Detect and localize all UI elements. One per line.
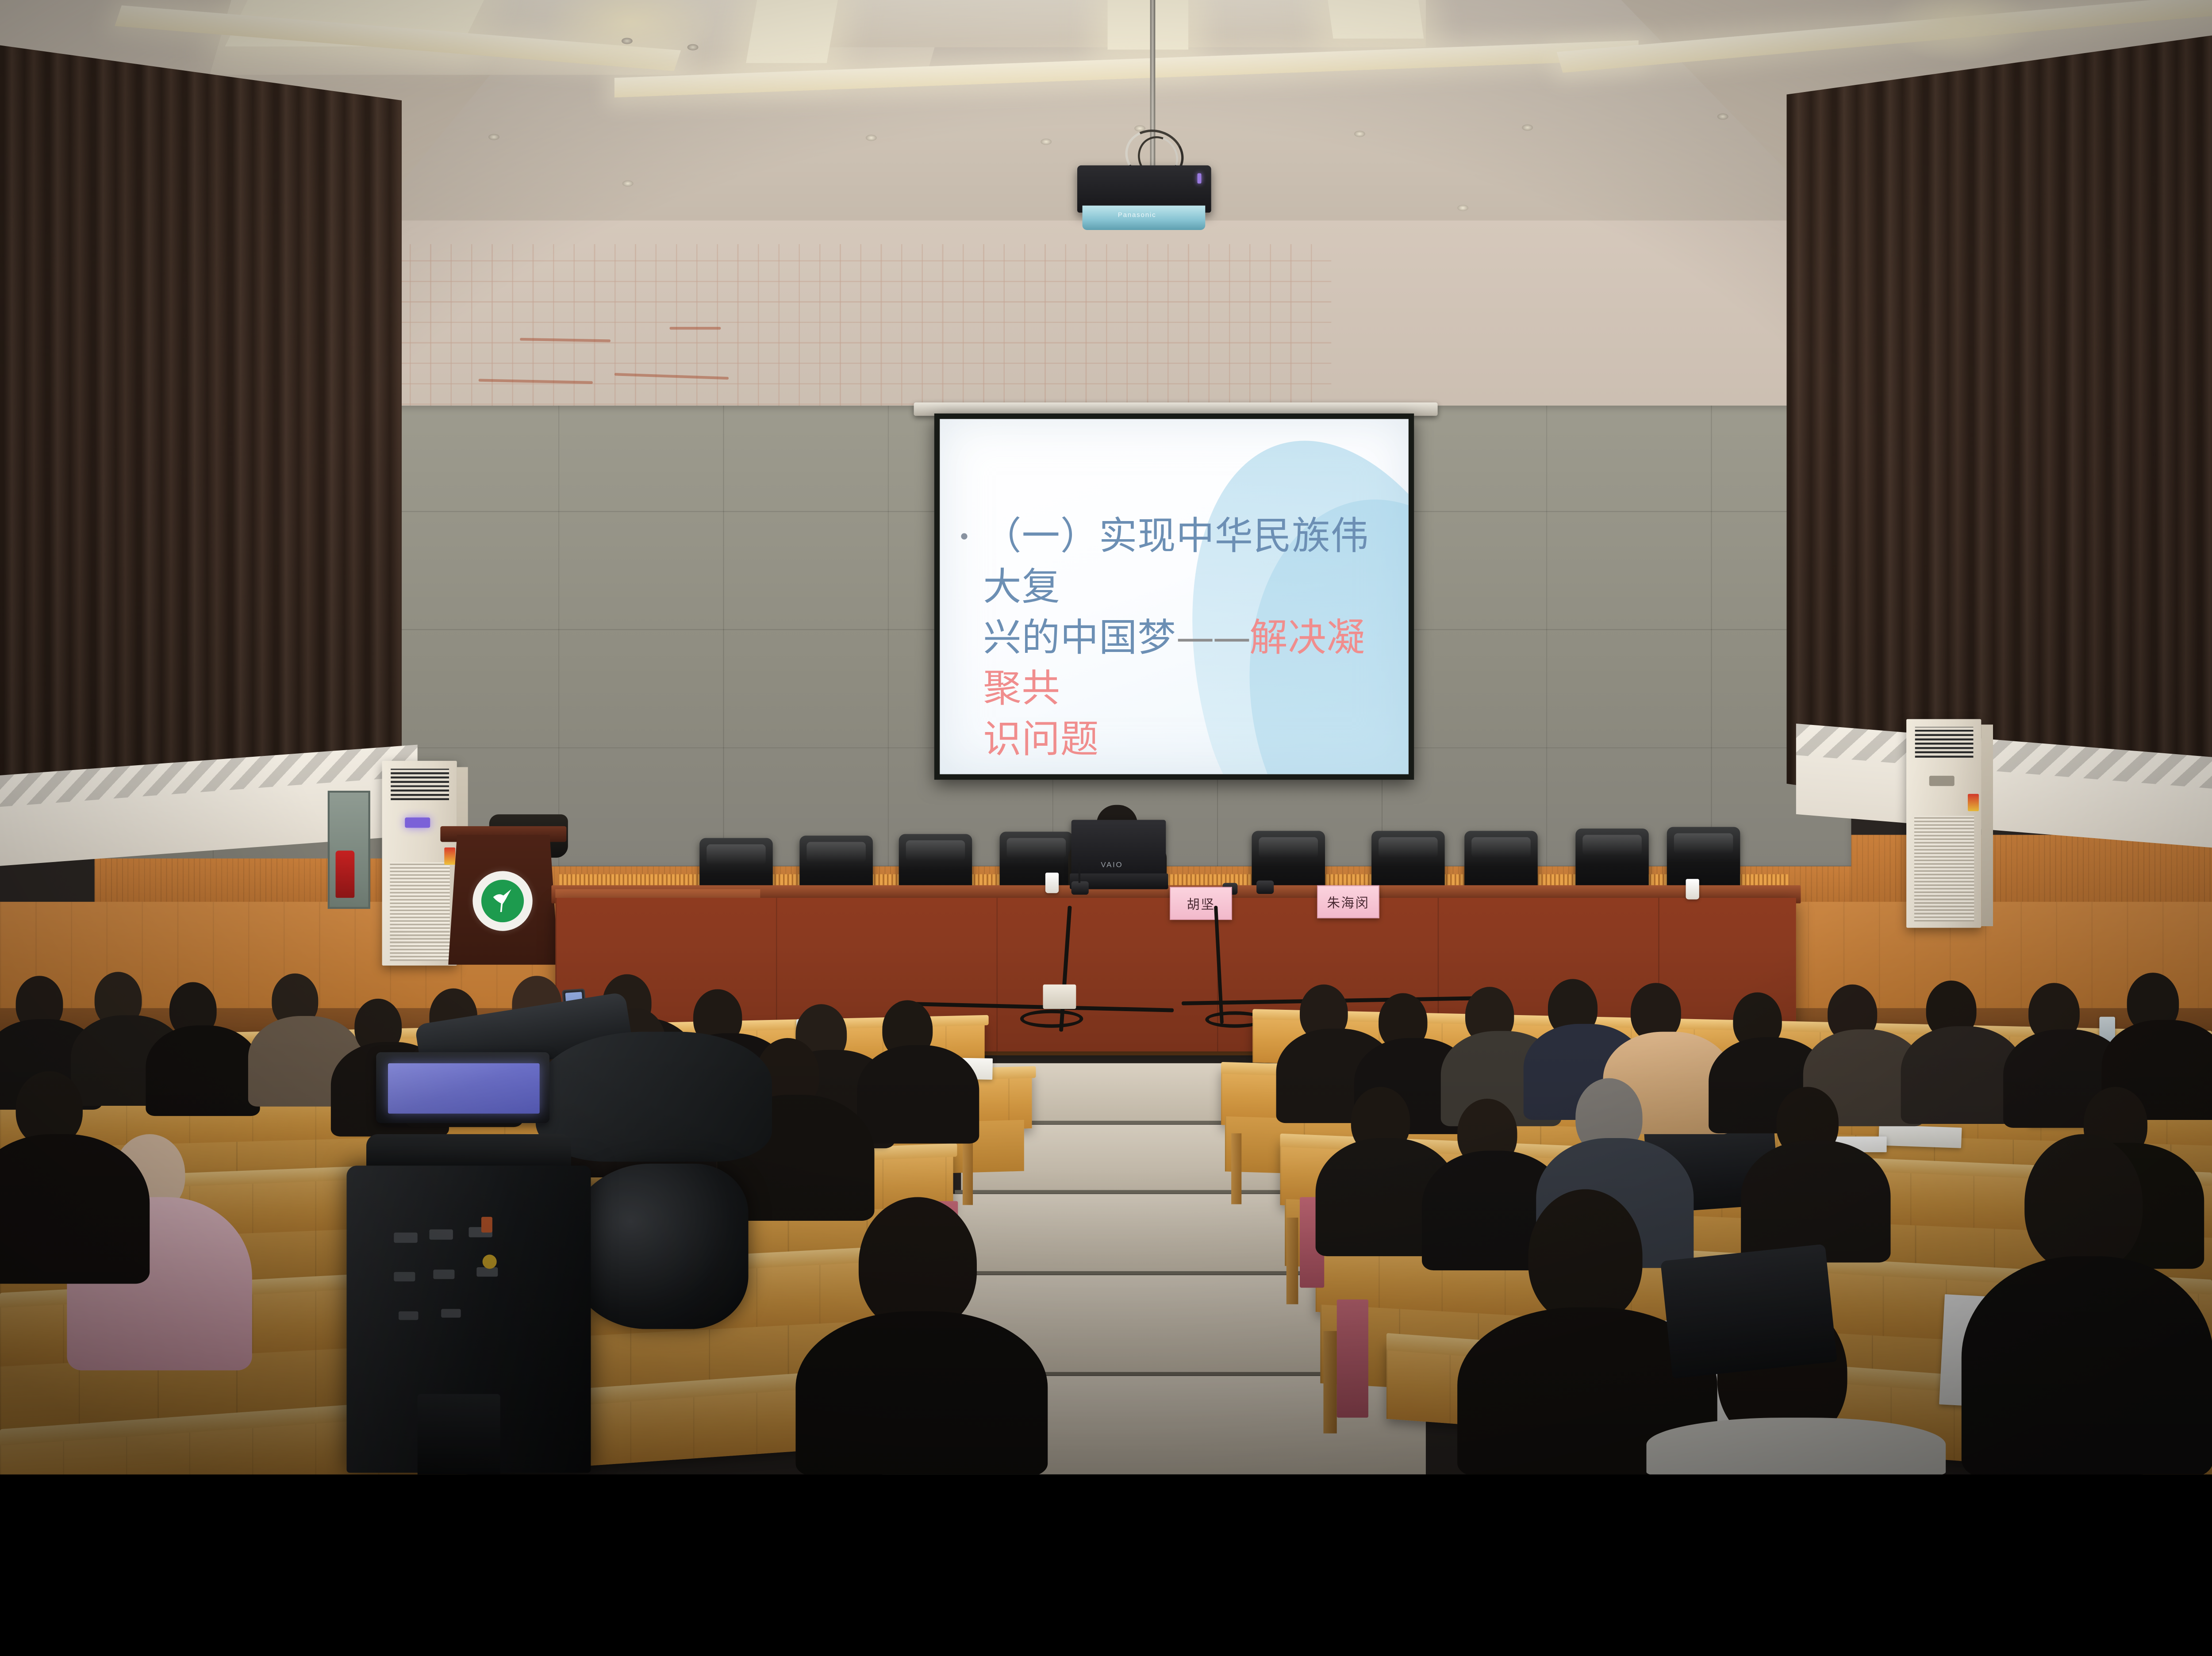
desk-leg-left-1 — [963, 1134, 973, 1205]
camera-button-4[interactable] — [394, 1272, 415, 1281]
curtain-left — [0, 45, 402, 840]
nameplate-zhu-haimin-text: 朱海闵 — [1327, 892, 1369, 911]
attendee-dark-front-left-body — [0, 1134, 150, 1284]
desk-leg-right-1 — [1231, 1133, 1241, 1204]
ceiling-downlight-4 — [1041, 138, 1052, 145]
attendee-l3-body — [146, 1025, 260, 1116]
institution-emblem — [472, 871, 532, 931]
projector-brand-label: Panasonic — [1118, 211, 1156, 219]
paper-cup-on-head-table-2[interactable] — [1686, 879, 1699, 899]
ac-unit-right-top-grille — [1915, 727, 1974, 758]
attendee-r14-body — [1741, 1140, 1890, 1262]
laptop-brand-label: VAIO — [1101, 861, 1123, 870]
nameplate-zhu-haimin: 朱海闵 — [1317, 885, 1379, 918]
wall-scuff-4 — [670, 327, 721, 330]
institution-emblem-field — [481, 880, 524, 922]
microphone-2[interactable] — [1256, 881, 1274, 894]
nameplate-hu-jian-text: 胡坚 — [1187, 894, 1215, 913]
ceiling-light-panel-2 — [746, 0, 838, 63]
desk-leg-right-2 — [1286, 1218, 1298, 1304]
ceiling-downlight-8 — [488, 134, 499, 140]
stage-chair-9[interactable] — [1667, 827, 1740, 893]
ceiling-downlight-6 — [1522, 124, 1533, 130]
desk-leg-right-3 — [1323, 1331, 1336, 1433]
camera-button-8[interactable] — [441, 1309, 461, 1318]
camera-button-7[interactable] — [399, 1311, 419, 1320]
ac-unit-right-bottom-grille — [1914, 816, 1974, 922]
camera-button-2[interactable] — [429, 1230, 453, 1240]
crane-bird-icon — [492, 888, 514, 914]
book-on-desk-4[interactable] — [1878, 1125, 1962, 1148]
ac-unit-right-display[interactable] — [1929, 776, 1955, 786]
wallpaper-pattern — [307, 244, 1331, 425]
slide-content: （一）实现中华民族伟大复 兴的中国梦——解决凝聚共 识问题 — [958, 510, 1393, 764]
fire-extinguisher-icon — [336, 851, 355, 898]
ceiling-downlight-7 — [1717, 113, 1728, 119]
microphone-1-stem — [1079, 862, 1080, 883]
ceiling-downlight-2 — [687, 44, 699, 50]
camera-button-6[interactable] — [476, 1267, 498, 1276]
lecture-hall-scene: Panasonic （一）实现中华民族伟大复 兴的中国梦——解决凝聚共 识问题 — [0, 0, 2212, 1474]
ac-unit-left-badge — [444, 847, 455, 865]
ceiling-downlight-10 — [1457, 205, 1468, 211]
ceiling-downlight-9 — [622, 180, 634, 187]
attendee-foreground-right-1-head — [1528, 1189, 1642, 1323]
camera-record-indicator — [483, 1255, 497, 1269]
paper-cup-on-head-table[interactable] — [1045, 873, 1059, 893]
slide-line-1: （一）实现中华民族伟大复 — [983, 510, 1393, 612]
attendee-foreground-left-3-body — [795, 1311, 1048, 1475]
camera-button-1[interactable] — [394, 1233, 417, 1243]
slide-line-2: 兴的中国梦——解决凝聚共 — [983, 612, 1393, 714]
camera-tripod-head[interactable] — [418, 1394, 500, 1475]
shoulder-bag-foreground[interactable] — [1660, 1244, 1837, 1379]
curtain-right — [1786, 35, 2212, 847]
ceiling-downlight-3 — [866, 134, 877, 141]
microphone-1[interactable] — [1071, 882, 1089, 895]
ac-unit-left-top-grille — [391, 769, 449, 800]
ceiling-light-panel-4 — [1328, 0, 1424, 38]
ac-unit-left-display[interactable] — [405, 817, 430, 828]
slide-bullet-icon — [961, 533, 967, 539]
projection-screen-frame: （一）实现中华民族伟大复 兴的中国梦——解决凝聚共 识问题 — [934, 414, 1414, 780]
nameplate-hu-jian: 胡坚 — [1170, 887, 1232, 920]
ac-unit-right-side — [1981, 724, 1993, 926]
camera-rec-switch[interactable] — [481, 1217, 492, 1233]
slide-line-3-text: 识问题 — [983, 717, 1099, 761]
ceiling-downlight-1 — [622, 38, 633, 44]
slide-line-3: 识问题 — [983, 713, 1393, 764]
attendee-foreground-right-3-head — [2024, 1134, 2143, 1272]
stage-chair-8[interactable] — [1575, 828, 1649, 894]
camera-lcd-screen[interactable] — [388, 1063, 540, 1114]
camera-lens-hood — [536, 1032, 772, 1162]
slide-line-1-text: （一）实现中华民族伟大复 — [983, 514, 1369, 609]
power-strip[interactable] — [1043, 985, 1076, 1009]
seat-back-right-1[interactable] — [1337, 1299, 1368, 1418]
attendee-foreground-right-2-body — [1647, 1418, 1946, 1474]
ceiling-downlight-5 — [1354, 131, 1365, 137]
ceiling-light-panel-3 — [1108, 0, 1189, 50]
attendee-l11-body — [857, 1045, 979, 1144]
projector-status-led — [1198, 173, 1202, 184]
slide-line-2-blue-text: 兴的中国梦 — [983, 615, 1176, 660]
attendee-foreground-right-3-body — [1962, 1256, 2212, 1474]
ac-unit-right-badge — [1968, 794, 1979, 811]
stage-cable-coil-1 — [1020, 1010, 1083, 1028]
projection-screen: （一）实现中华民族伟大复 兴的中国梦——解决凝聚共 识问题 — [940, 419, 1408, 774]
camera-button-5[interactable] — [433, 1269, 454, 1279]
ac-unit-left-bottom-grille — [390, 862, 449, 961]
slide-line-2-dash: —— — [1176, 615, 1249, 660]
camera-lens — [567, 1164, 749, 1329]
